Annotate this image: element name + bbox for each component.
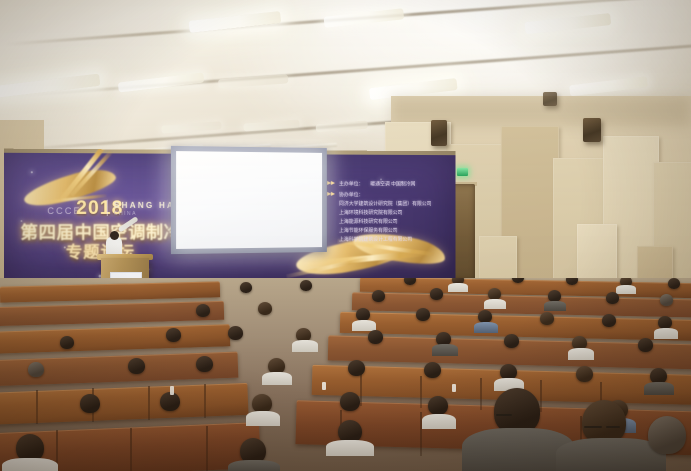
audience-head (348, 360, 365, 376)
audience-head (428, 396, 448, 415)
audience-head (196, 304, 210, 317)
audience-head (340, 392, 360, 411)
org-host-value: 暖通空调 中国制冷网 (370, 180, 415, 187)
org-host-label: 主办单位： (339, 180, 364, 187)
org-item: 上海科学院建筑设计工程有限公司 (339, 236, 412, 243)
audience-head (80, 394, 100, 413)
audience-head (372, 290, 385, 302)
audience-head (648, 416, 686, 454)
audience-head (166, 328, 181, 342)
banner-city-sub: CHINA (114, 211, 137, 217)
audience-head (228, 326, 243, 340)
org-coorg-label: 协办单位： (339, 191, 364, 198)
audience-head (660, 294, 673, 306)
audience-head (300, 280, 312, 291)
audience-seating (0, 278, 691, 471)
audience-head (430, 288, 443, 300)
audience-head (240, 282, 252, 293)
org-item: 上海环境科技研究院有限公司 (339, 209, 402, 216)
presenter-head (110, 231, 119, 240)
auditorium-scene: CCCE 2018 SHANG HAI CHINA 第四届中国空调制冷节能技术 … (0, 0, 691, 471)
audience-head (424, 362, 441, 378)
audience-head (668, 278, 680, 289)
audience-head (258, 302, 272, 315)
projection-screen-frame (171, 146, 327, 254)
org-item: 上海节能环保服务有限公司 (339, 227, 398, 234)
audience-head (60, 336, 74, 349)
audience-head (606, 292, 619, 304)
ceiling-lamp (0, 74, 100, 99)
wall-speaker (543, 92, 557, 106)
exit-sign-icon (457, 168, 468, 176)
org-item: 同济大学建筑设计研究院（集团）有限公司 (339, 200, 432, 207)
audience-head (638, 338, 653, 352)
audience-head (368, 330, 383, 344)
ceiling-lamp (118, 73, 205, 93)
banner-city: SHANG HAI (114, 201, 180, 210)
wall-speaker (431, 120, 447, 146)
audience-head (196, 356, 213, 372)
ceiling-lamp (161, 121, 221, 133)
org-marker-icon: ▶▶ (327, 180, 335, 186)
audience-head (416, 308, 430, 321)
audience-head (602, 314, 616, 327)
audience-head (540, 312, 554, 325)
audience-head (28, 362, 44, 377)
wall-speaker (583, 118, 601, 142)
projection-screen (176, 151, 322, 249)
audience-head (128, 358, 145, 374)
audience-head (504, 334, 519, 348)
audience-head (576, 366, 593, 382)
org-marker-icon: ▶▶ (327, 191, 335, 197)
org-item: 上海能源科技研究有限公司 (339, 218, 398, 225)
